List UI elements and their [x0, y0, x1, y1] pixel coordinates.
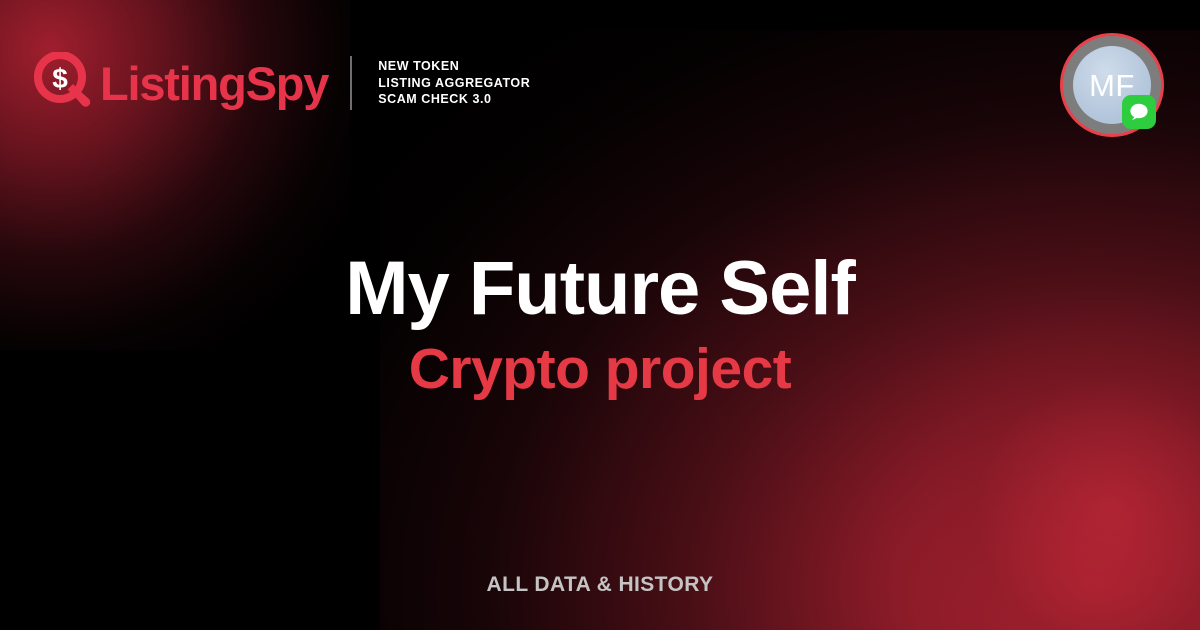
tagline-line-3: SCAM CHECK 3.0 — [378, 91, 530, 108]
tagline-line-1: NEW TOKEN — [378, 58, 530, 75]
magnifier-dollar-icon: $ — [34, 52, 96, 114]
avatar[interactable]: MF — [1060, 33, 1164, 137]
og-card: $ ListingSpy NEW TOKEN LISTING AGGREGATO… — [0, 0, 1200, 630]
svg-text:$: $ — [52, 63, 68, 94]
tagline-line-2: LISTING AGGREGATOR — [378, 75, 530, 92]
brand-header[interactable]: $ ListingSpy NEW TOKEN LISTING AGGREGATO… — [34, 52, 530, 114]
brand-tagline: NEW TOKEN LISTING AGGREGATOR SCAM CHECK … — [378, 58, 530, 108]
footer-caption: ALL DATA & HISTORY — [0, 573, 1200, 597]
brand-name: ListingSpy — [100, 60, 328, 107]
chat-bubble-icon[interactable] — [1122, 95, 1156, 129]
project-heading-block: My Future Self Crypto project — [0, 246, 1200, 402]
header-divider — [350, 56, 352, 110]
page-subtitle: Crypto project — [0, 336, 1200, 402]
page-title: My Future Self — [0, 246, 1200, 332]
